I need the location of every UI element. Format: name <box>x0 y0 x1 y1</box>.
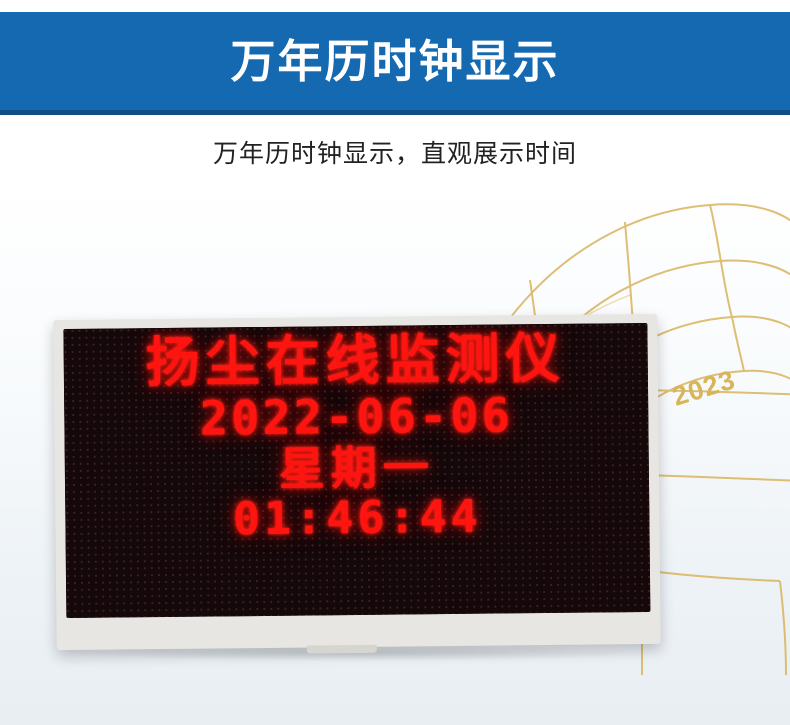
led-screen: 扬尘在线监测仪 2022-06-06 星期一 01:46:44 <box>63 323 650 618</box>
led-line-date: 2022-06-06 <box>200 392 513 442</box>
device-foot <box>307 645 377 654</box>
header-banner: 万年历时钟显示 <box>0 12 790 110</box>
led-display-device: 扬尘在线监测仪 2022-06-06 星期一 01:46:44 <box>53 314 660 650</box>
product-photo: 2021 2022 2023 扬尘在线监测仪 2022-06-06 星期一 01… <box>0 185 790 725</box>
subtitle-text: 万年历时钟显示，直观展示时间 <box>0 134 790 170</box>
led-text-block: 扬尘在线监测仪 2022-06-06 星期一 01:46:44 <box>63 323 650 618</box>
led-line-time: 01:46:44 <box>233 494 482 542</box>
header-underline <box>0 110 790 115</box>
page-title: 万年历时钟显示 <box>230 39 559 84</box>
year-label-2023: 2023 <box>669 364 739 412</box>
product-banner-page: 万年历时钟显示 万年历时钟显示，直观展示时间 <box>0 0 790 725</box>
led-line-title: 扬尘在线监测仪 <box>145 332 566 390</box>
led-line-weekday: 星期一 <box>279 444 435 492</box>
